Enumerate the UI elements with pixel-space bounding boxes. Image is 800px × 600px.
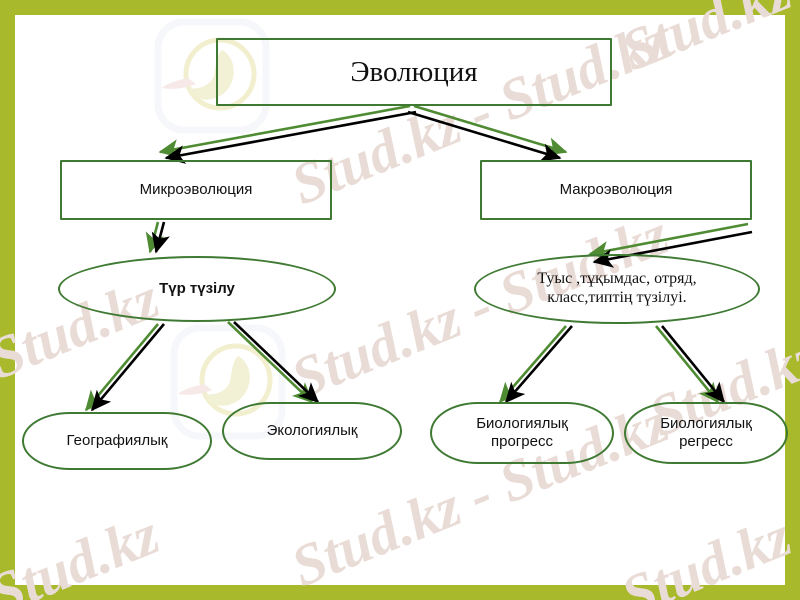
edge-title-micro [160,106,416,158]
edge-tuys-regr [656,326,724,402]
node-macroevolution[interactable]: Макроэволюция [480,160,752,220]
node-microevolution[interactable]: Микроэволюция [60,160,332,220]
node-label: Түр түзілу [159,280,235,298]
node-label: Географиялық [67,432,168,450]
node-species-formation[interactable]: Түр түзілу [58,256,336,322]
node-geographic[interactable]: Географиялық [22,412,212,470]
node-genus-family-order-class-type[interactable]: Туыс ,тұқымдас, отряд, класс,типтің түзі… [474,254,760,324]
edge-tur-eko [228,322,318,402]
node-title-evolution[interactable]: Эволюция [216,38,612,106]
node-label: Макроэволюция [560,181,673,199]
edge-tuys-prog [500,326,572,402]
node-label-line2: регресс [660,433,752,451]
node-ecological[interactable]: Экологиялық [222,402,402,460]
node-label-line2: класс,типтің түзілуі. [537,289,696,308]
edge-tur-geo [86,324,164,410]
node-label-line1: Биологиялық [476,415,568,433]
node-biological-progress[interactable]: Биологиялық прогресс [430,402,614,464]
diagram-canvas: Stud.kz - Stud.kz Stud.kz Stud.kz - Stud… [0,0,800,600]
node-biological-regress[interactable]: Биологиялық регресс [624,402,788,464]
node-label-line2: прогресс [476,433,568,451]
edge-title-macro [408,106,566,158]
node-label-line1: Биологиялық [660,415,752,433]
node-label: Микроэволюция [140,181,253,199]
node-label: Экологиялық [267,422,358,440]
edge-micro-tur [150,222,164,252]
node-label: Эволюция [350,55,477,89]
node-label-line1: Туыс ,тұқымдас, отряд, [537,270,696,289]
